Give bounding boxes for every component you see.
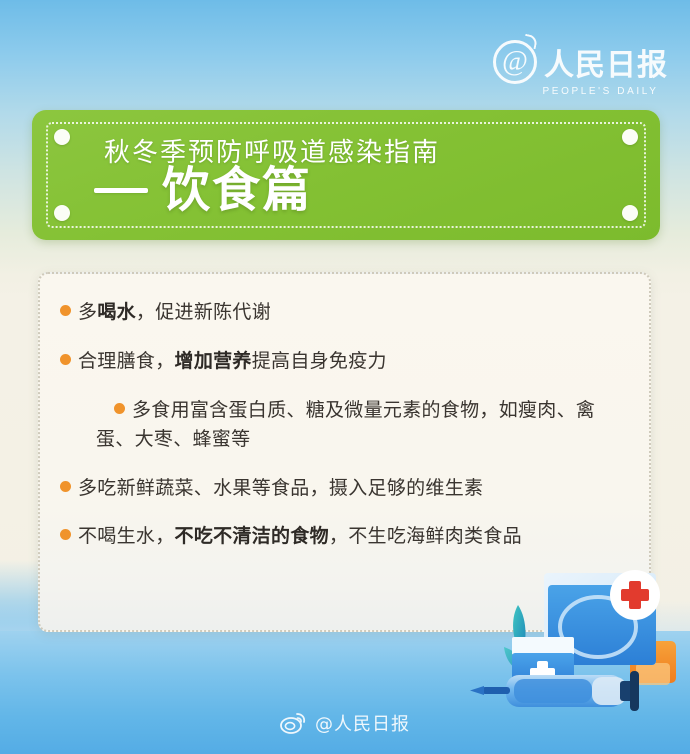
tip-emphasis: 增加营养: [175, 350, 252, 372]
weibo-icon: [280, 712, 306, 734]
tip-text: 多吃新鲜蔬菜、水果等食品，摄入足够的维生素: [78, 477, 483, 499]
bullet-icon: [60, 529, 71, 540]
tip-text: 多: [78, 301, 97, 323]
bullet-icon: [60, 305, 71, 316]
bullet-icon: [114, 403, 125, 414]
peoples-daily-logo: @ 人民日报 PEOPLE'S DAILY: [493, 40, 668, 97]
logo-english-name: PEOPLE'S DAILY: [543, 86, 659, 97]
title-banner: 秋冬季预防呼吸道感染指南 饮食篇: [32, 110, 660, 240]
tip-emphasis: 喝水: [97, 301, 136, 323]
footer-handle: @人民日报: [315, 710, 410, 736]
footer: @人民日报: [0, 710, 690, 736]
corner-dot-bottom-right: [622, 205, 638, 221]
corner-dot-top-right: [622, 129, 638, 145]
at-sign-icon: @: [493, 40, 537, 84]
corner-dot-top-left: [54, 129, 70, 145]
logo-chinese-name: 人民日报: [544, 40, 668, 84]
tip-text: 多食用富含蛋白质、糖及微量元素的食物，如瘦肉、禽蛋、大枣、蜂蜜等: [96, 399, 595, 450]
tip-text: 合理膳食，: [78, 350, 175, 372]
tips-list: 多喝水，促进新陈代谢合理膳食，增加营养提高自身免疫力多食用富含蛋白质、糖及微量元…: [60, 298, 629, 551]
tip-emphasis: 不吃不清洁的食物: [175, 525, 329, 547]
poster-root: @ 人民日报 PEOPLE'S DAILY 秋冬季预防呼吸道感染指南 饮食篇 多…: [0, 0, 690, 754]
tip-text: 不喝生水，: [78, 525, 175, 547]
corner-dot-bottom-left: [54, 205, 70, 221]
tip-item: 多喝水，促进新陈代谢: [60, 298, 629, 327]
syringe-icon: [470, 671, 639, 711]
tip-item: 多食用富含蛋白质、糖及微量元素的食物，如瘦肉、禽蛋、大枣、蜂蜜等: [60, 396, 629, 454]
logo-row: @ 人民日报: [493, 40, 668, 84]
tip-text: 提高自身免疫力: [252, 350, 387, 372]
tip-item: 合理膳食，增加营养提高自身免疫力: [60, 347, 629, 376]
medical-illustration: [470, 555, 690, 725]
banner-subtitle-group: 饮食篇: [94, 166, 312, 214]
bullet-icon: [60, 354, 71, 365]
tip-text: ，促进新陈代谢: [136, 301, 271, 323]
tip-item: 多吃新鲜蔬菜、水果等食品，摄入足够的维生素: [60, 474, 629, 503]
bullet-icon: [60, 481, 71, 492]
banner-subtitle: 饮食篇: [162, 166, 312, 214]
tip-text: ，不生吃海鲜肉类食品: [329, 525, 522, 547]
tip-item: 不喝生水，不吃不清洁的食物，不生吃海鲜肉类食品: [60, 522, 629, 551]
dash-icon: [94, 188, 148, 193]
